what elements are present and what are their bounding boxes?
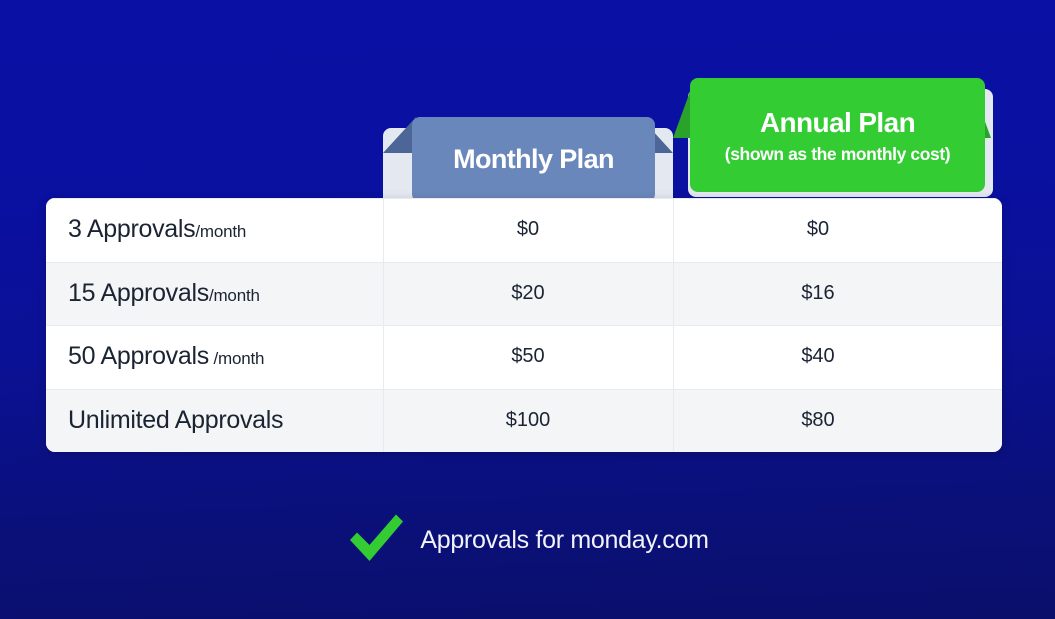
table-row: 15 Approvals/month $20 $16 (46, 262, 1002, 326)
row-label-sub: /month (209, 286, 260, 305)
monthly-price-cell: $100 (383, 409, 673, 432)
table-row: Unlimited Approvals $100 $80 (46, 389, 1002, 453)
row-label-sub: /month (195, 222, 246, 241)
column-divider-2 (673, 198, 674, 452)
check-icon (346, 512, 404, 568)
row-separator (46, 198, 1002, 199)
monthly-price-cell: $50 (383, 345, 673, 368)
annual-price-cell: $40 (673, 345, 963, 368)
table-row: 3 Approvals/month $0 $0 (46, 198, 1002, 262)
row-label-cell: 3 Approvals/month (46, 215, 383, 244)
row-label-cell: Unlimited Approvals (46, 406, 383, 435)
row-label-main: 3 Approvals (68, 215, 195, 243)
row-label-main: 15 Approvals (68, 279, 209, 307)
monthly-price-cell: $0 (383, 218, 673, 241)
monthly-price-cell: $20 (383, 282, 673, 305)
row-separator (46, 262, 1002, 263)
pricing-graphic: Monthly Plan Annual Plan (shown as the m… (0, 0, 1055, 619)
column-divider-1 (383, 198, 384, 452)
row-label-main: 50 Approvals (68, 342, 209, 370)
table-row: 50 Approvals /month $50 $40 (46, 325, 1002, 389)
row-label-cell: 50 Approvals /month (46, 342, 383, 371)
row-label-cell: 15 Approvals/month (46, 279, 383, 308)
row-label-main: Unlimited Approvals (68, 406, 283, 434)
footer-text: Approvals for monday.com (420, 526, 708, 555)
row-separator (46, 389, 1002, 390)
monthly-plan-title: Monthly Plan (453, 144, 614, 175)
annual-plan-subtitle: (shown as the monthly cost) (725, 145, 950, 164)
annual-price-cell: $16 (673, 282, 963, 305)
annual-price-cell: $0 (673, 218, 963, 241)
annual-plan-header: Annual Plan (shown as the monthly cost) (673, 62, 1002, 203)
annual-price-cell: $80 (673, 409, 963, 432)
annual-plan-title: Annual Plan (760, 106, 915, 140)
pricing-table: 3 Approvals/month $0 $0 15 Approvals/mon… (46, 198, 1002, 452)
monthly-plan-tab: Monthly Plan (412, 117, 655, 202)
monthly-plan-header: Monthly Plan (383, 108, 673, 203)
footer-logo: Approvals for monday.com (0, 512, 1055, 568)
row-label-sub: /month (209, 349, 264, 368)
annual-plan-tab: Annual Plan (shown as the monthly cost) (690, 78, 985, 192)
row-separator (46, 325, 1002, 326)
